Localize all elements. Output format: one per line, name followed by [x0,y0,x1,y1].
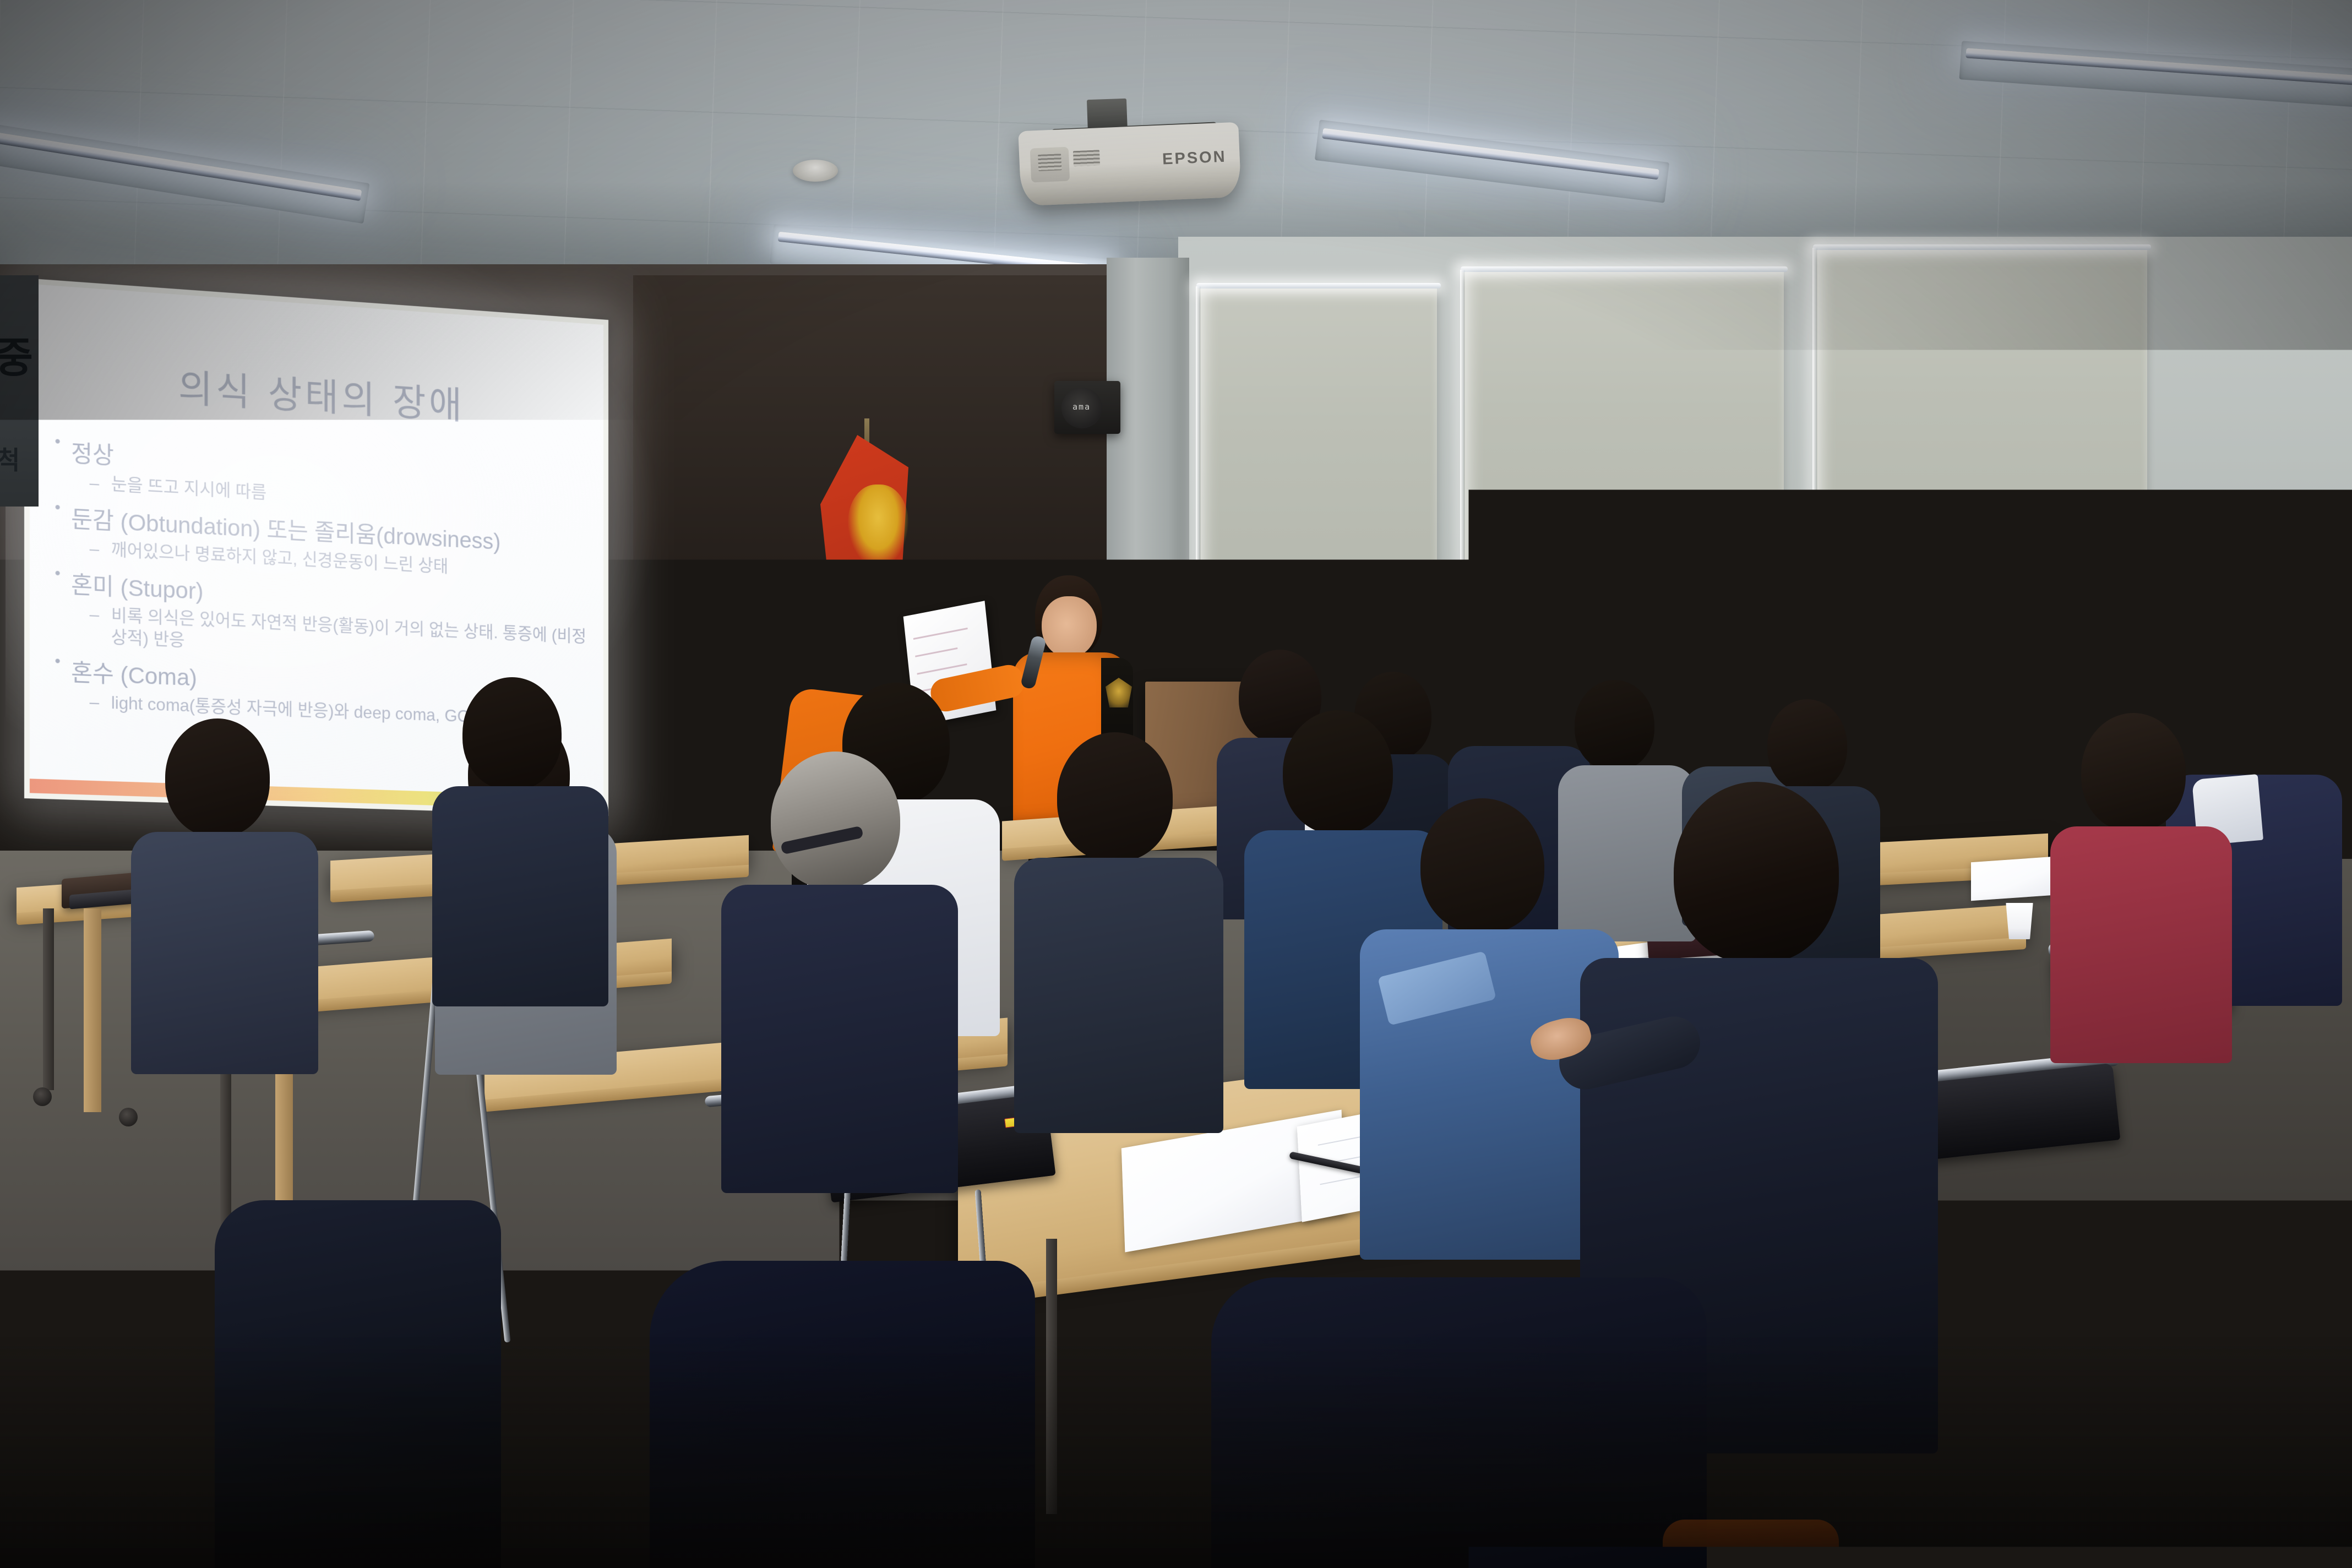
table-leg [1046,1239,1057,1514]
slide-heading: 의식 상태의 장애 [48,349,587,438]
attendee-head [1476,655,1558,752]
attendee-torso [432,786,608,1006]
banner-text-line1: 중 [0,336,33,380]
instructor-face [1042,596,1097,658]
paper-rule [2164,1288,2285,1313]
attendee-face [2199,706,2265,778]
handout-line-3 [917,663,967,675]
attendee-torso [721,885,958,1193]
table-caster [33,1087,52,1106]
handout-line-1 [913,628,968,640]
attendee-torso [1211,1277,1707,1568]
projector: EPSON [1018,122,1241,206]
flag-emblem-icon [848,484,908,567]
attendee-head [1674,782,1839,963]
projector-brand-label: EPSON [1162,148,1227,169]
table-caster [119,1108,138,1126]
blind-light-edge-1 [1196,286,1201,672]
speaker-brand-label: ama [1072,402,1091,412]
attendee-torso [131,832,318,1074]
classroom-photo: EPSON 의식 상태의 장애 정상 눈을 뜨고 지시에 따름 둔감 (Obtu… [0,0,2352,1568]
window-blind-2[interactable] [1464,270,1784,666]
attendee-torso [650,1261,1035,1568]
attendee-head [1575,680,1654,771]
attendee-torso [1014,858,1223,1133]
table-leg [43,908,54,1090]
blind-light-edge-2 [1460,270,1465,666]
attendee-torso [215,1200,501,1568]
attendee-head [1057,732,1173,862]
foreground-orange-uniform [1663,1520,1839,1568]
attendee-grey-hair [771,752,900,889]
attendee-head [1283,710,1393,834]
paper-cup-2 [2004,903,2035,939]
projector-vent-icon [1038,154,1061,171]
shoe-2 [383,1163,475,1216]
handout-line-2 [915,647,957,657]
attendee-head [462,677,562,790]
attendee-head [1767,699,1847,792]
assistant-head [804,628,862,698]
smoke-detector-icon [793,160,838,182]
window-blind-1[interactable] [1200,286,1437,672]
projector-vent2-icon [1073,150,1100,166]
attendee-torso [2050,826,2232,1063]
blind-light-edge-3 [1812,248,1817,633]
table-support-panel [84,908,101,1112]
wall-banner: 중 척 [0,275,39,507]
attendee-head [1420,798,1544,933]
attendee-head [165,718,270,837]
banner-text-line2: 척 [0,440,20,477]
attendee-head [2081,713,2186,831]
attendee-head [1696,688,1767,771]
